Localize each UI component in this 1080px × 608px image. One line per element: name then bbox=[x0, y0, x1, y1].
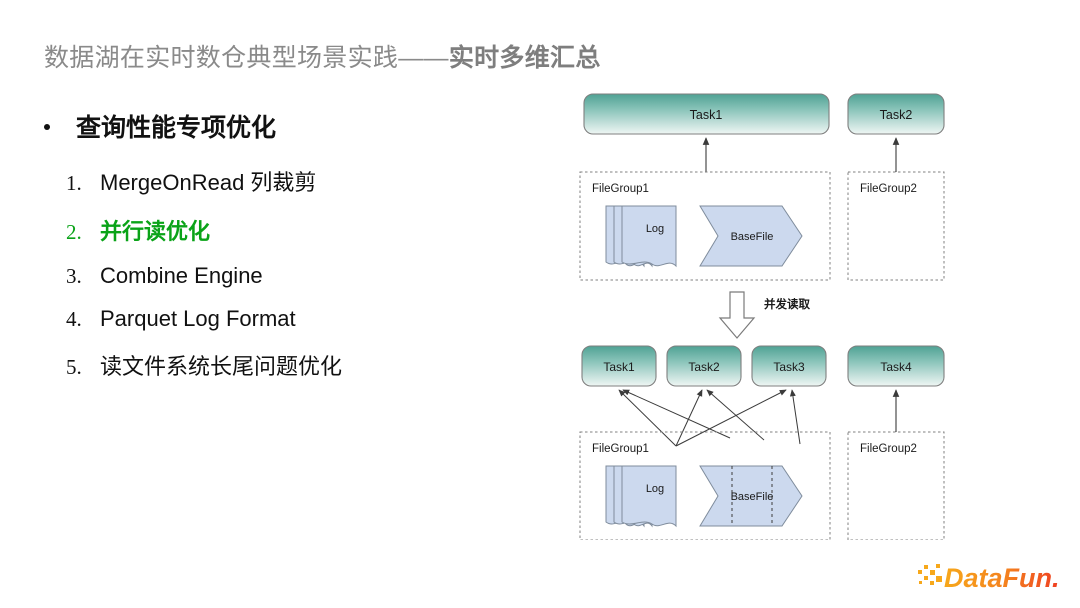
list-item-label: Parquet Log Format bbox=[100, 306, 296, 332]
log-stack-icon: Log bbox=[606, 206, 676, 266]
task-box-label: Task4 bbox=[880, 360, 912, 374]
log-label: Log bbox=[646, 223, 664, 235]
filegroup-bottom-2: FileGroup2 bbox=[848, 432, 944, 540]
logo-text-fun: Fun bbox=[1003, 563, 1052, 593]
task-box-top-2[interactable]: Task2 bbox=[848, 94, 944, 134]
architecture-diagram: Task1 Task2 FileGroup1 Log BaseFile File… bbox=[560, 80, 980, 540]
datafun-logo: DataFun. bbox=[916, 560, 1066, 600]
task-box-label: Task2 bbox=[688, 360, 720, 374]
list-item-number: 5. bbox=[66, 355, 100, 380]
list-item-number: 4. bbox=[66, 307, 100, 332]
log-stack-icon: Log bbox=[606, 466, 676, 526]
list-item-number: 1. bbox=[66, 171, 100, 196]
logo-text-dot: . bbox=[1052, 563, 1060, 593]
bullet-heading-label: 查询性能专项优化 bbox=[76, 108, 276, 144]
task-box-bottom-1[interactable]: Task1 bbox=[582, 346, 656, 386]
filegroup-bottom-1: FileGroup1 Log BaseFile bbox=[580, 432, 830, 540]
list-item-label: 读文件系统长尾问题优化 bbox=[100, 349, 342, 381]
task-box-label: Task1 bbox=[603, 360, 635, 374]
basefile-label: BaseFile bbox=[731, 231, 774, 243]
task-box-bottom-4[interactable]: Task4 bbox=[848, 346, 944, 386]
task-box-bottom-3[interactable]: Task3 bbox=[752, 346, 826, 386]
basefile-shape: BaseFile bbox=[700, 206, 802, 266]
list-item-number: 2. bbox=[66, 220, 100, 245]
list-item-label: 并行读优化 bbox=[100, 214, 210, 246]
basefile-shape-split: BaseFile bbox=[700, 466, 802, 526]
list-item-number: 3. bbox=[66, 264, 100, 289]
filegroup-label: FileGroup2 bbox=[860, 183, 917, 195]
bullet-heading-row: 查询性能专项优化 bbox=[44, 108, 276, 144]
list-item-label: Combine Engine bbox=[100, 263, 263, 289]
filegroup-label: FileGroup2 bbox=[860, 443, 917, 455]
page-title-emphasis: 实时多维汇总 bbox=[449, 44, 601, 72]
filegroup-label: FileGroup1 bbox=[592, 443, 649, 455]
list-item: 1. MergeOnRead 列裁剪 bbox=[66, 165, 526, 197]
filegroup-top-2: FileGroup2 bbox=[848, 172, 944, 280]
task-box-top-1[interactable]: Task1 bbox=[584, 94, 829, 134]
log-label: Log bbox=[646, 483, 664, 495]
filegroup-label: FileGroup1 bbox=[592, 183, 649, 195]
list-item: 4. Parquet Log Format bbox=[66, 306, 526, 332]
logo-dots-icon bbox=[918, 564, 942, 585]
svg-text:DataFun.: DataFun. bbox=[944, 563, 1060, 593]
concurrent-read-arrow-icon bbox=[720, 292, 754, 338]
bullet-dot-icon bbox=[44, 124, 50, 130]
list-item: 2. 并行读优化 bbox=[66, 214, 526, 246]
numbered-list: 1. MergeOnRead 列裁剪 2. 并行读优化 3. Combine E… bbox=[66, 165, 526, 398]
task-box-label: Task3 bbox=[773, 360, 805, 374]
task-box-label: Task2 bbox=[880, 108, 913, 122]
page-title-plain: 数据湖在实时数仓典型场景实践—— bbox=[44, 44, 449, 72]
list-item: 3. Combine Engine bbox=[66, 263, 526, 289]
filegroup-top-1: FileGroup1 Log BaseFile bbox=[580, 172, 830, 280]
basefile-label: BaseFile bbox=[731, 491, 774, 503]
list-item: 5. 读文件系统长尾问题优化 bbox=[66, 349, 526, 381]
task-box-label: Task1 bbox=[690, 108, 723, 122]
logo-text-data: Data bbox=[944, 563, 1003, 593]
page-title: 数据湖在实时数仓典型场景实践——实时多维汇总 bbox=[44, 38, 601, 74]
list-item-label: MergeOnRead 列裁剪 bbox=[100, 165, 316, 197]
concurrent-read-label: 并发读取 bbox=[764, 297, 810, 311]
parallel-read-arrows bbox=[619, 390, 800, 446]
task-box-bottom-2[interactable]: Task2 bbox=[667, 346, 741, 386]
